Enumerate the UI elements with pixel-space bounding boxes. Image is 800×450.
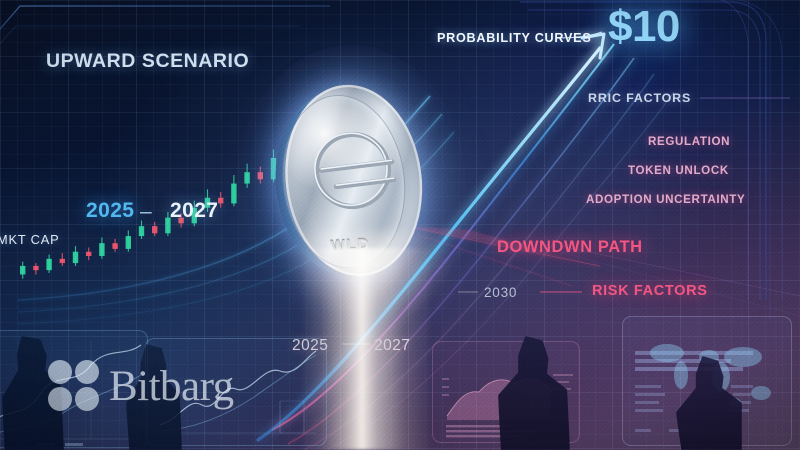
worldcoin-logo-icon xyxy=(265,77,434,289)
bitbarg-logo-icon xyxy=(48,360,100,412)
rric-factors-heading: RRIC FACTORS xyxy=(588,91,691,105)
risk-factors-label: RISK FACTORS xyxy=(592,283,708,299)
risk-item-regulation: REGULATION xyxy=(648,135,730,148)
upward-scenario-heading: UPWARD SCENARIO xyxy=(46,50,249,73)
risk-item-adoption-uncertainty: ADOPTION UNCERTAINTY xyxy=(586,193,745,206)
price-target-label: $10 xyxy=(608,2,680,52)
bitbarg-watermark: Bitbarg xyxy=(48,360,234,412)
year-2030-label: 2030 xyxy=(484,285,517,300)
adoption-map-area-chart xyxy=(433,342,581,444)
corner-bracket-top-left xyxy=(0,6,330,50)
risk-item-token-unlock: TOKEN UNLOCK xyxy=(628,164,729,177)
downtrend-path-label: DOWNDWN PATH xyxy=(497,238,643,257)
probability-curves-callout: PROBABILITY CURVES xyxy=(437,31,592,45)
timeline-start-year: 2025 xyxy=(292,337,328,355)
wld-coin xyxy=(265,77,434,289)
range-end-year: 2027 xyxy=(170,199,218,223)
infographic-canvas: WLD LONG TESM PREDICTION MODEL ABOPTION … xyxy=(0,0,800,450)
coin-ticker-label: WLD xyxy=(330,236,371,255)
world-id-content xyxy=(623,317,793,447)
range-start-year: 2025 xyxy=(86,199,134,223)
adoption-map-panel[interactable]: ABOPTION MAB xyxy=(432,341,580,443)
mkt-cap-label: MKT CAP xyxy=(0,232,59,247)
range-dash: – xyxy=(140,200,153,224)
timeline-end-year: 2027 xyxy=(374,337,410,355)
world-map-icon xyxy=(650,344,771,408)
world-id-panel[interactable]: WORLD 10 xyxy=(622,316,792,446)
bitbarg-wordmark: Bitbarg xyxy=(109,365,234,408)
